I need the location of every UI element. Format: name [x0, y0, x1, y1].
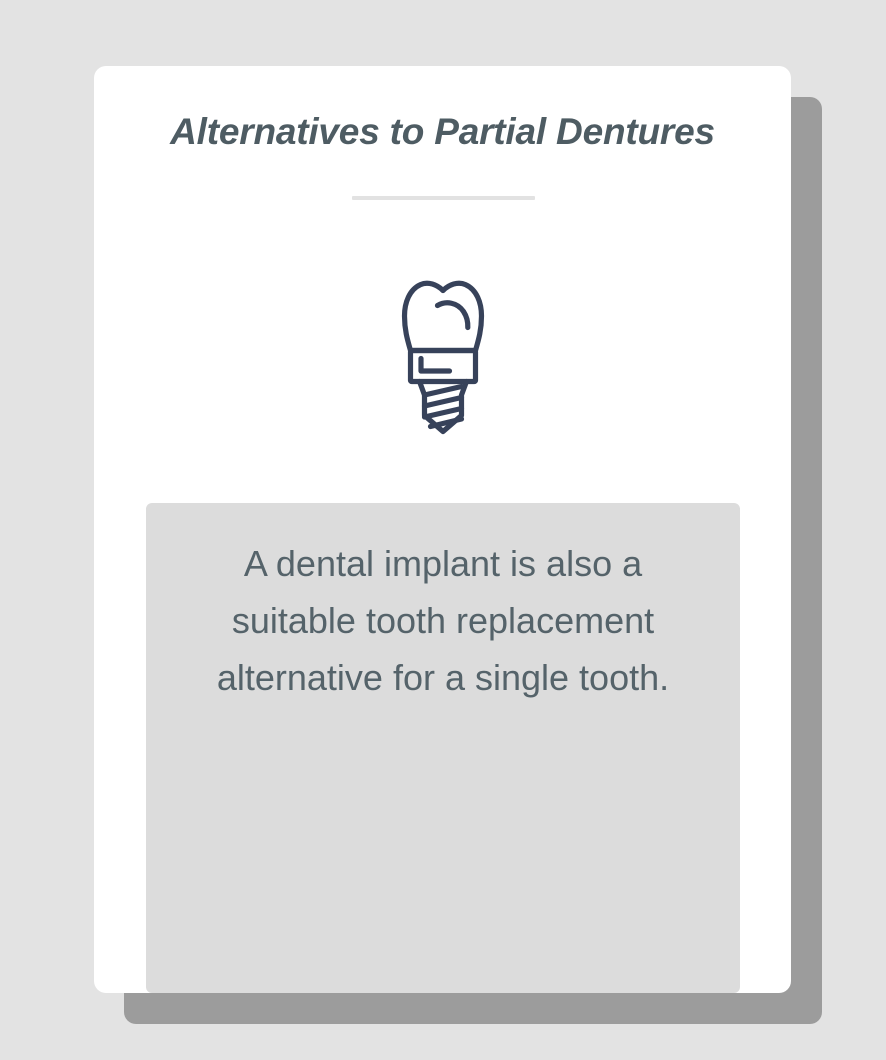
dental-implant-icon-graphic: [397, 278, 489, 436]
content-card: Alternatives to Partial Dentures: [94, 66, 791, 993]
slide-stage: Alternatives to Partial Dentures: [0, 0, 886, 1060]
body-text-panel: A dental implant is also a suitable toot…: [146, 503, 740, 993]
page-title: Alternatives to Partial Dentures: [94, 109, 791, 155]
title-divider: [352, 196, 535, 200]
dental-implant-icon: [94, 272, 791, 442]
body-text: A dental implant is also a suitable toot…: [180, 535, 706, 706]
